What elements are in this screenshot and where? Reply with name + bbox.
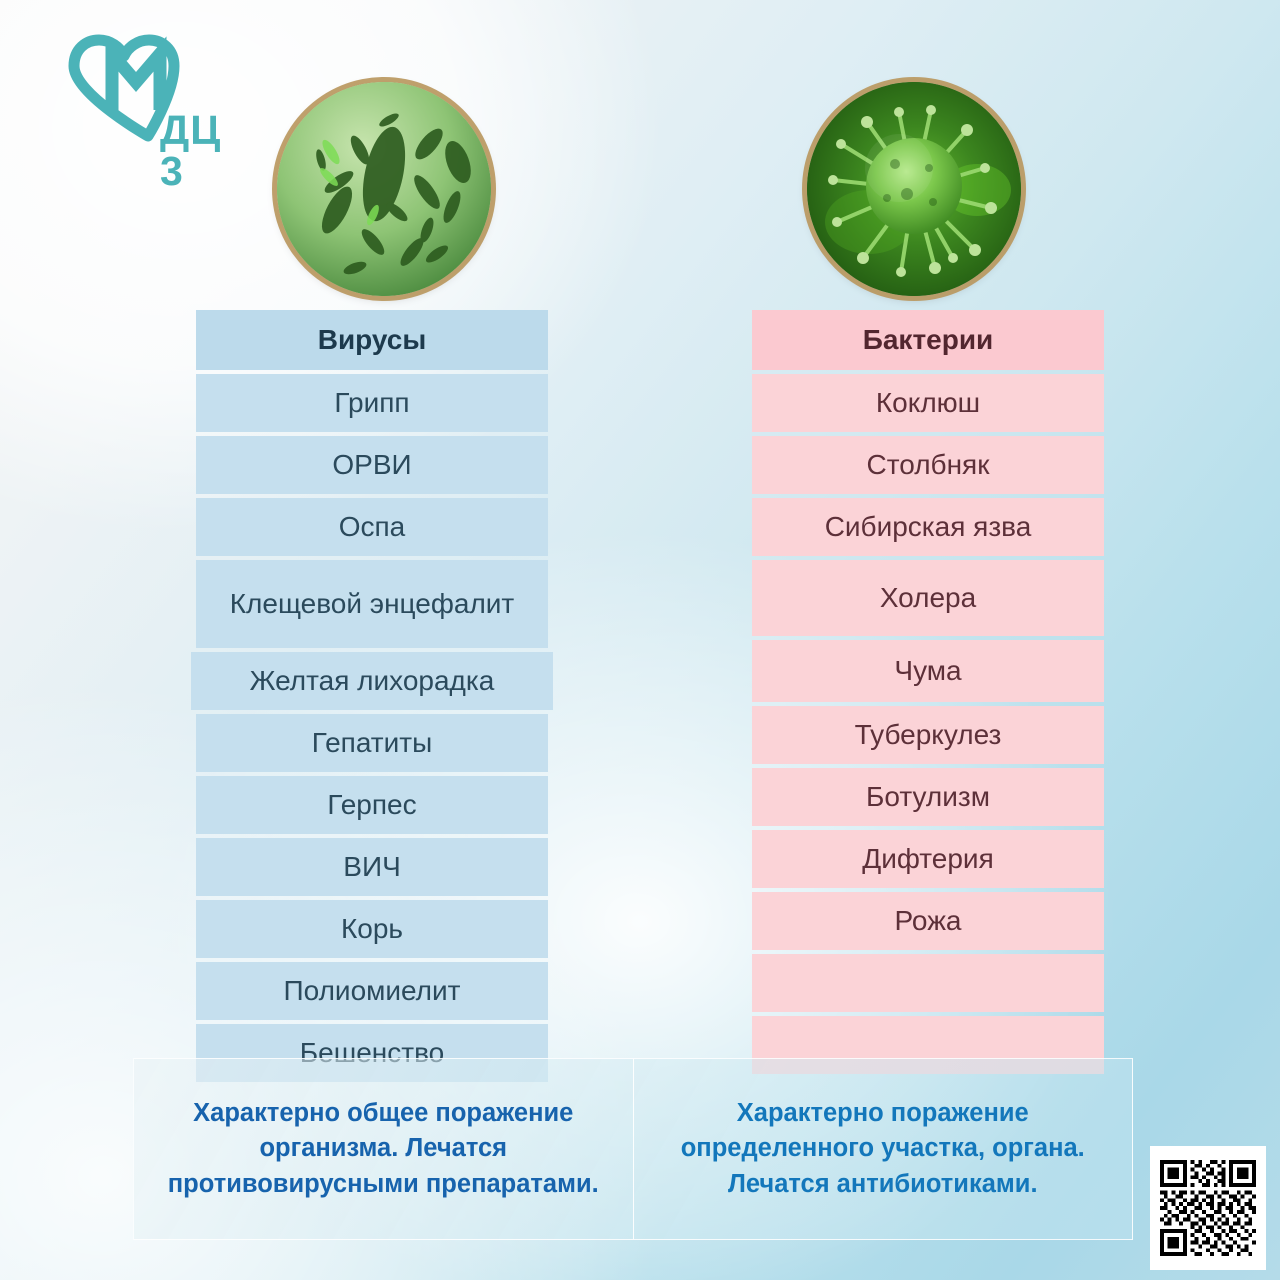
table-row: ОРВИ [196,436,548,494]
bacteria-micrograph-image [277,82,491,296]
bacteria-table: Бактерии Коклюш Столбняк Сибирская язва … [752,310,1104,1078]
table-row: Оспа [196,498,548,556]
footer-text-bacteria: Характерно поражение определенного участ… [634,1059,1133,1239]
table-row: Желтая лихорадка [191,652,553,710]
table-row: Холера [752,560,1104,636]
table-row: ВИЧ [196,838,548,896]
bacteria-rods-icon [277,82,491,296]
table-row: Сибирская язва [752,498,1104,556]
table-row: Рожа [752,892,1104,950]
clinic-logo[interactable]: ДЦ 3 [52,32,242,144]
qr-code[interactable] [1150,1146,1266,1270]
table-row: Чума [752,640,1104,702]
table-row: Полиомиелит [196,962,548,1020]
footer-text-viruses: Характерно общее поражение организма. Ле… [134,1059,634,1239]
table-row: Клещевой энцефалит [196,560,548,648]
table-row: Гепатиты [196,714,548,772]
qr-code-icon [1160,1160,1256,1256]
footer-panel: Характерно общее поражение организма. Ле… [133,1058,1133,1240]
infographic-canvas: ДЦ 3 [0,0,1280,1280]
viruses-table: Вирусы Грипп ОРВИ Оспа Клещевой энцефали… [196,310,548,1086]
table-row: Грипп [196,374,548,432]
table-row: Корь [196,900,548,958]
virus-particle-icon [807,82,1021,296]
table-row: Ботулизм [752,768,1104,826]
table-row: Коклюш [752,374,1104,432]
bacteria-table-header: Бактерии [752,310,1104,370]
viruses-table-header: Вирусы [196,310,548,370]
virus-micrograph-image [807,82,1021,296]
table-row: Туберкулез [752,706,1104,764]
table-row-empty [752,954,1104,1012]
logo-subtitle: ДЦ 3 [160,110,242,192]
table-row: Дифтерия [752,830,1104,888]
table-row: Герпес [196,776,548,834]
table-row: Столбняк [752,436,1104,494]
